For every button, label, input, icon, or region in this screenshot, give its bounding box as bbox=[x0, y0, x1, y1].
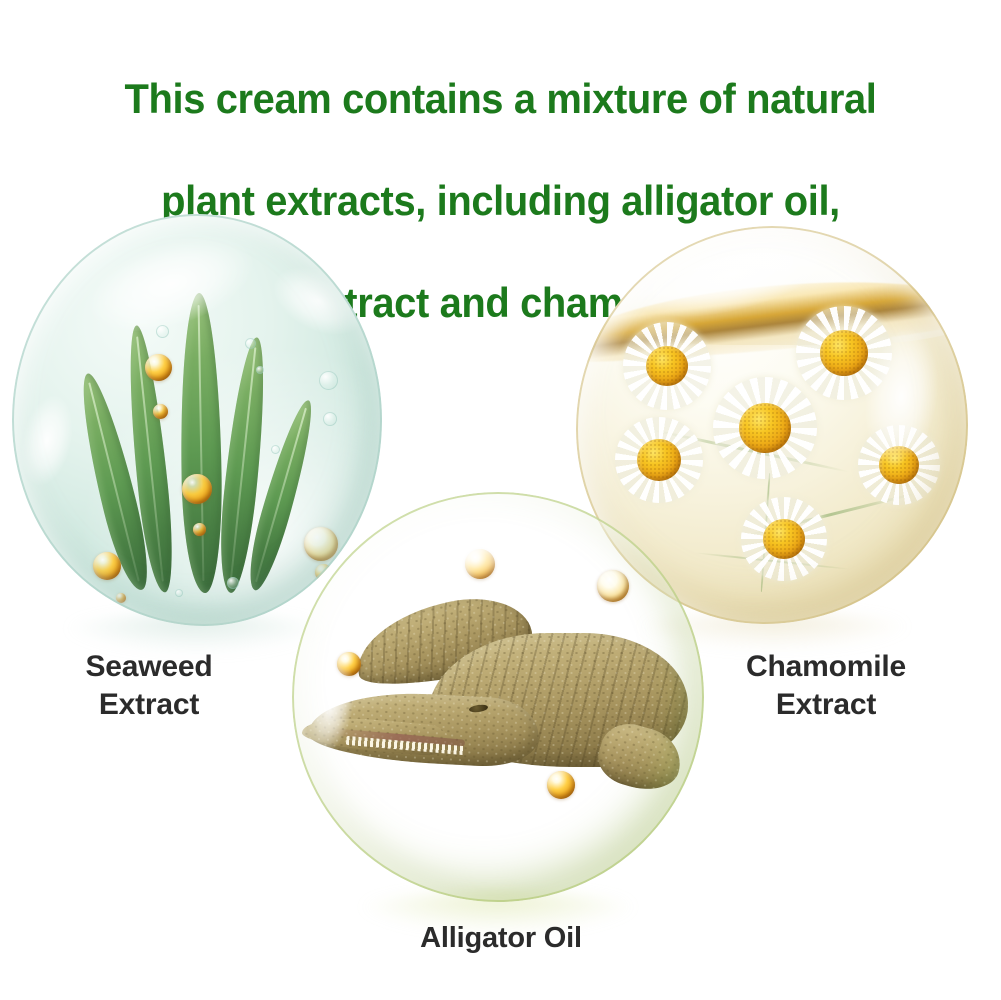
flower-center bbox=[646, 346, 688, 386]
headline-line-1: This cream contains a mixture of natural bbox=[25, 73, 976, 124]
seaweed-glass-body bbox=[12, 214, 382, 626]
ingredient-label-alligator: Alligator Oil bbox=[326, 920, 676, 956]
seaweed-highlight-left bbox=[14, 391, 80, 490]
water-bubble bbox=[319, 371, 338, 390]
chamomile-flower bbox=[713, 377, 817, 479]
water-bubble bbox=[271, 445, 280, 454]
chamomile-flower bbox=[623, 322, 711, 410]
oil-droplet bbox=[116, 593, 126, 603]
flower-center bbox=[820, 330, 868, 376]
chamomile-flower bbox=[615, 417, 703, 503]
flower-center bbox=[739, 403, 791, 453]
ingredient-sphere-seaweed bbox=[12, 214, 382, 626]
oil-droplet bbox=[465, 549, 495, 579]
chamomile-flower bbox=[858, 425, 940, 505]
alligator-highlight-top bbox=[360, 492, 570, 611]
crocodile-figure bbox=[317, 615, 688, 795]
ingredient-label-chamomile: Chamomile Extract bbox=[700, 648, 952, 724]
kelp-blade bbox=[178, 293, 223, 594]
alligator-glass-body bbox=[292, 492, 704, 902]
infographic-canvas: This cream contains a mixture of natural… bbox=[0, 0, 1001, 1000]
flower-center bbox=[637, 439, 681, 481]
oil-droplet bbox=[153, 404, 168, 419]
oil-droplet bbox=[597, 570, 629, 602]
seaweed-kelp-cluster bbox=[71, 280, 330, 593]
water-bubble bbox=[323, 412, 337, 426]
ingredient-label-seaweed: Seaweed Extract bbox=[24, 648, 274, 724]
water-bubble bbox=[245, 338, 256, 349]
ingredient-sphere-alligator bbox=[292, 492, 704, 902]
oil-droplet bbox=[304, 527, 338, 561]
flower-center bbox=[763, 519, 805, 559]
alligator-highlight-bottom bbox=[389, 806, 615, 883]
water-bubble bbox=[175, 589, 183, 597]
flower-center bbox=[879, 446, 919, 484]
water-bubble bbox=[227, 577, 239, 589]
chamomile-flower bbox=[741, 497, 827, 581]
oil-droplet bbox=[182, 474, 212, 504]
